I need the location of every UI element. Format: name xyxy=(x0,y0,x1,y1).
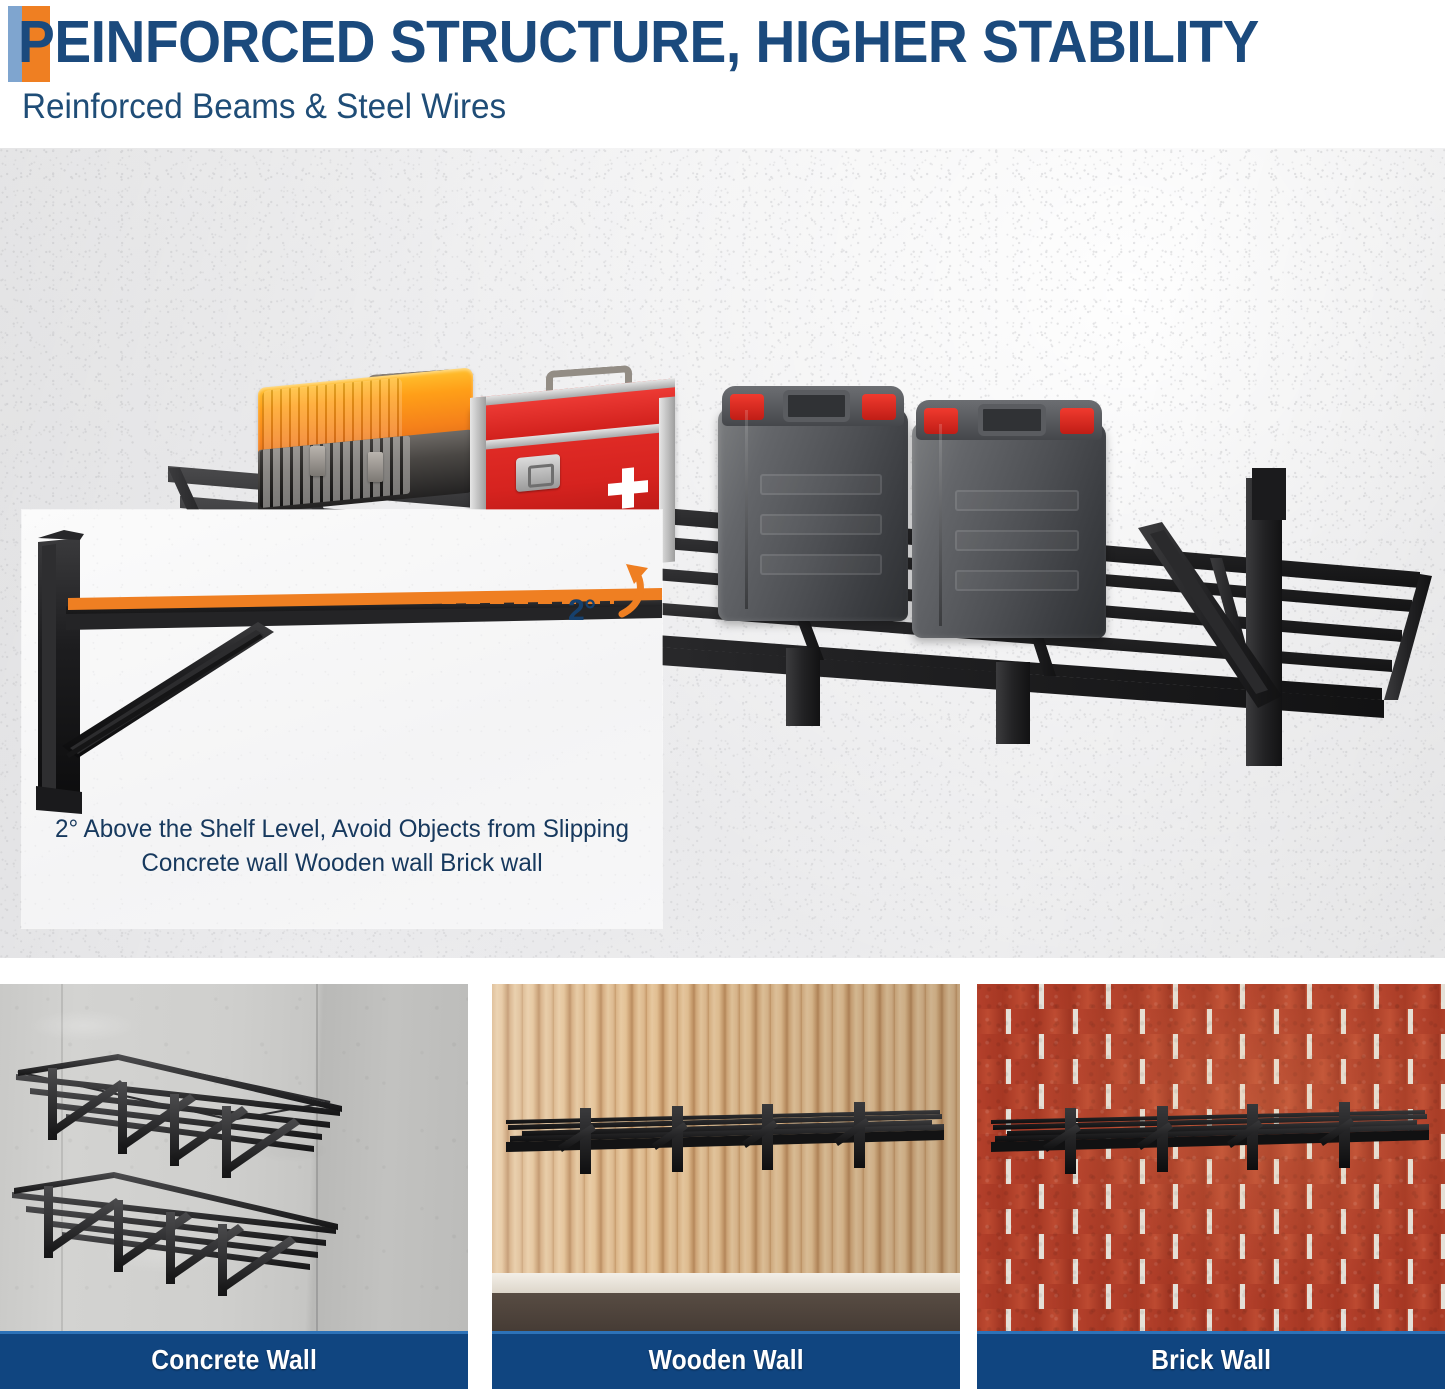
case-rib-1 xyxy=(760,474,882,495)
inset-caption-line1: 2° Above the Shelf Level, Avoid Objects … xyxy=(55,815,629,843)
case-rib-3 xyxy=(955,570,1079,591)
wall-type-panels: Concrete Wall xyxy=(0,984,1445,1389)
panel-concrete-wall: Concrete Wall xyxy=(0,984,468,1389)
case-seam xyxy=(745,410,748,609)
case-seam xyxy=(939,424,942,626)
page-subtitle: Reinforced Beams & Steel Wires xyxy=(22,86,506,128)
case-handle xyxy=(783,390,850,422)
wooden-wall-photo xyxy=(492,984,960,1331)
toolbox-latch-left xyxy=(310,446,325,476)
caption-bar-brick: Brick Wall xyxy=(977,1331,1445,1389)
brick-wall-photo xyxy=(977,984,1445,1331)
caption-bar-wooden: Wooden Wall xyxy=(492,1331,960,1389)
page-title: PEINFORCED STRUCTURE, HIGHER STABILITY xyxy=(18,6,1346,78)
first-aid-clasp xyxy=(516,454,560,492)
gray-tool-case-right xyxy=(912,400,1106,638)
caption-topline xyxy=(492,1331,960,1334)
wooden-shelf-illustration xyxy=(492,984,960,1331)
case-latch-right xyxy=(862,394,896,420)
case-rib-1 xyxy=(955,490,1079,511)
case-rib-2 xyxy=(760,514,882,535)
brick-shelf-illustration xyxy=(977,984,1445,1331)
inset-caption: 2° Above the Shelf Level, Avoid Objects … xyxy=(32,812,653,880)
caption-bar-concrete: Concrete Wall xyxy=(0,1331,468,1389)
caption-label-concrete: Concrete Wall xyxy=(151,1344,317,1376)
gray-tool-case-left xyxy=(718,386,908,621)
header: PEINFORCED STRUCTURE, HIGHER STABILITY R… xyxy=(0,0,1445,148)
inset-caption-line2: Concrete wall Wooden wall Brick wall xyxy=(32,846,653,880)
case-rib-2 xyxy=(955,530,1079,551)
panel-brick-wall: Brick Wall xyxy=(977,984,1445,1389)
case-handle xyxy=(978,404,1046,436)
angle-label: 2° xyxy=(568,594,596,628)
toolbox-latch-right xyxy=(368,452,383,482)
case-latch-right xyxy=(1060,408,1094,434)
orange-toolbox xyxy=(258,388,473,513)
caption-label-brick: Brick Wall xyxy=(1151,1344,1271,1376)
concrete-shelves-illustration xyxy=(0,984,468,1331)
caption-topline xyxy=(977,1331,1445,1334)
caption-topline xyxy=(0,1331,468,1334)
caption-label-wooden: Wooden Wall xyxy=(648,1344,803,1376)
case-rib-3 xyxy=(760,554,882,575)
medical-cross-icon xyxy=(608,466,648,510)
concrete-wall-photo xyxy=(0,984,468,1331)
panel-wooden-wall: Wooden Wall xyxy=(492,984,960,1389)
